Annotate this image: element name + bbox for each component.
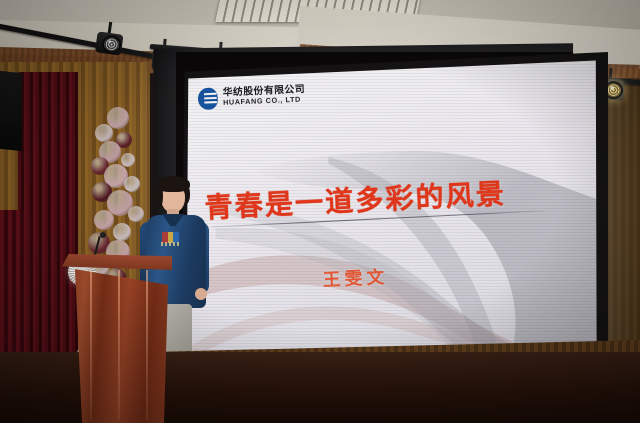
podium-trim-1 [90,270,92,420]
slide-author-name: 王雯文 [322,262,389,291]
par-light-1-icon [94,28,124,61]
balloon [121,153,135,167]
auditorium-scene: 华纺股份有限公司 HUAFANG CO., LTD 青春是一道多彩的风景 王雯文 [0,0,640,423]
microphone-icon [100,232,106,238]
wooden-podium [62,254,172,423]
podium-trim-2 [118,270,120,420]
balloon [94,210,114,230]
balloon [95,124,113,142]
presenter-hair-side [154,183,163,209]
shirt-badge-text [161,242,181,246]
huafang-logo-mark [198,87,219,110]
led-presentation-screen[interactable]: 华纺股份有限公司 HUAFANG CO., LTD 青春是一道多彩的风景 王雯文 [182,58,600,374]
podium-top-surface [62,254,172,270]
balloon [113,223,131,241]
presenter-hand-right [195,288,207,300]
huafang-company-logo: 华纺股份有限公司 HUAFANG CO., LTD [198,84,306,110]
pa-speaker-box [0,71,22,151]
podium-trim-3 [146,270,148,420]
balloon [124,176,140,192]
